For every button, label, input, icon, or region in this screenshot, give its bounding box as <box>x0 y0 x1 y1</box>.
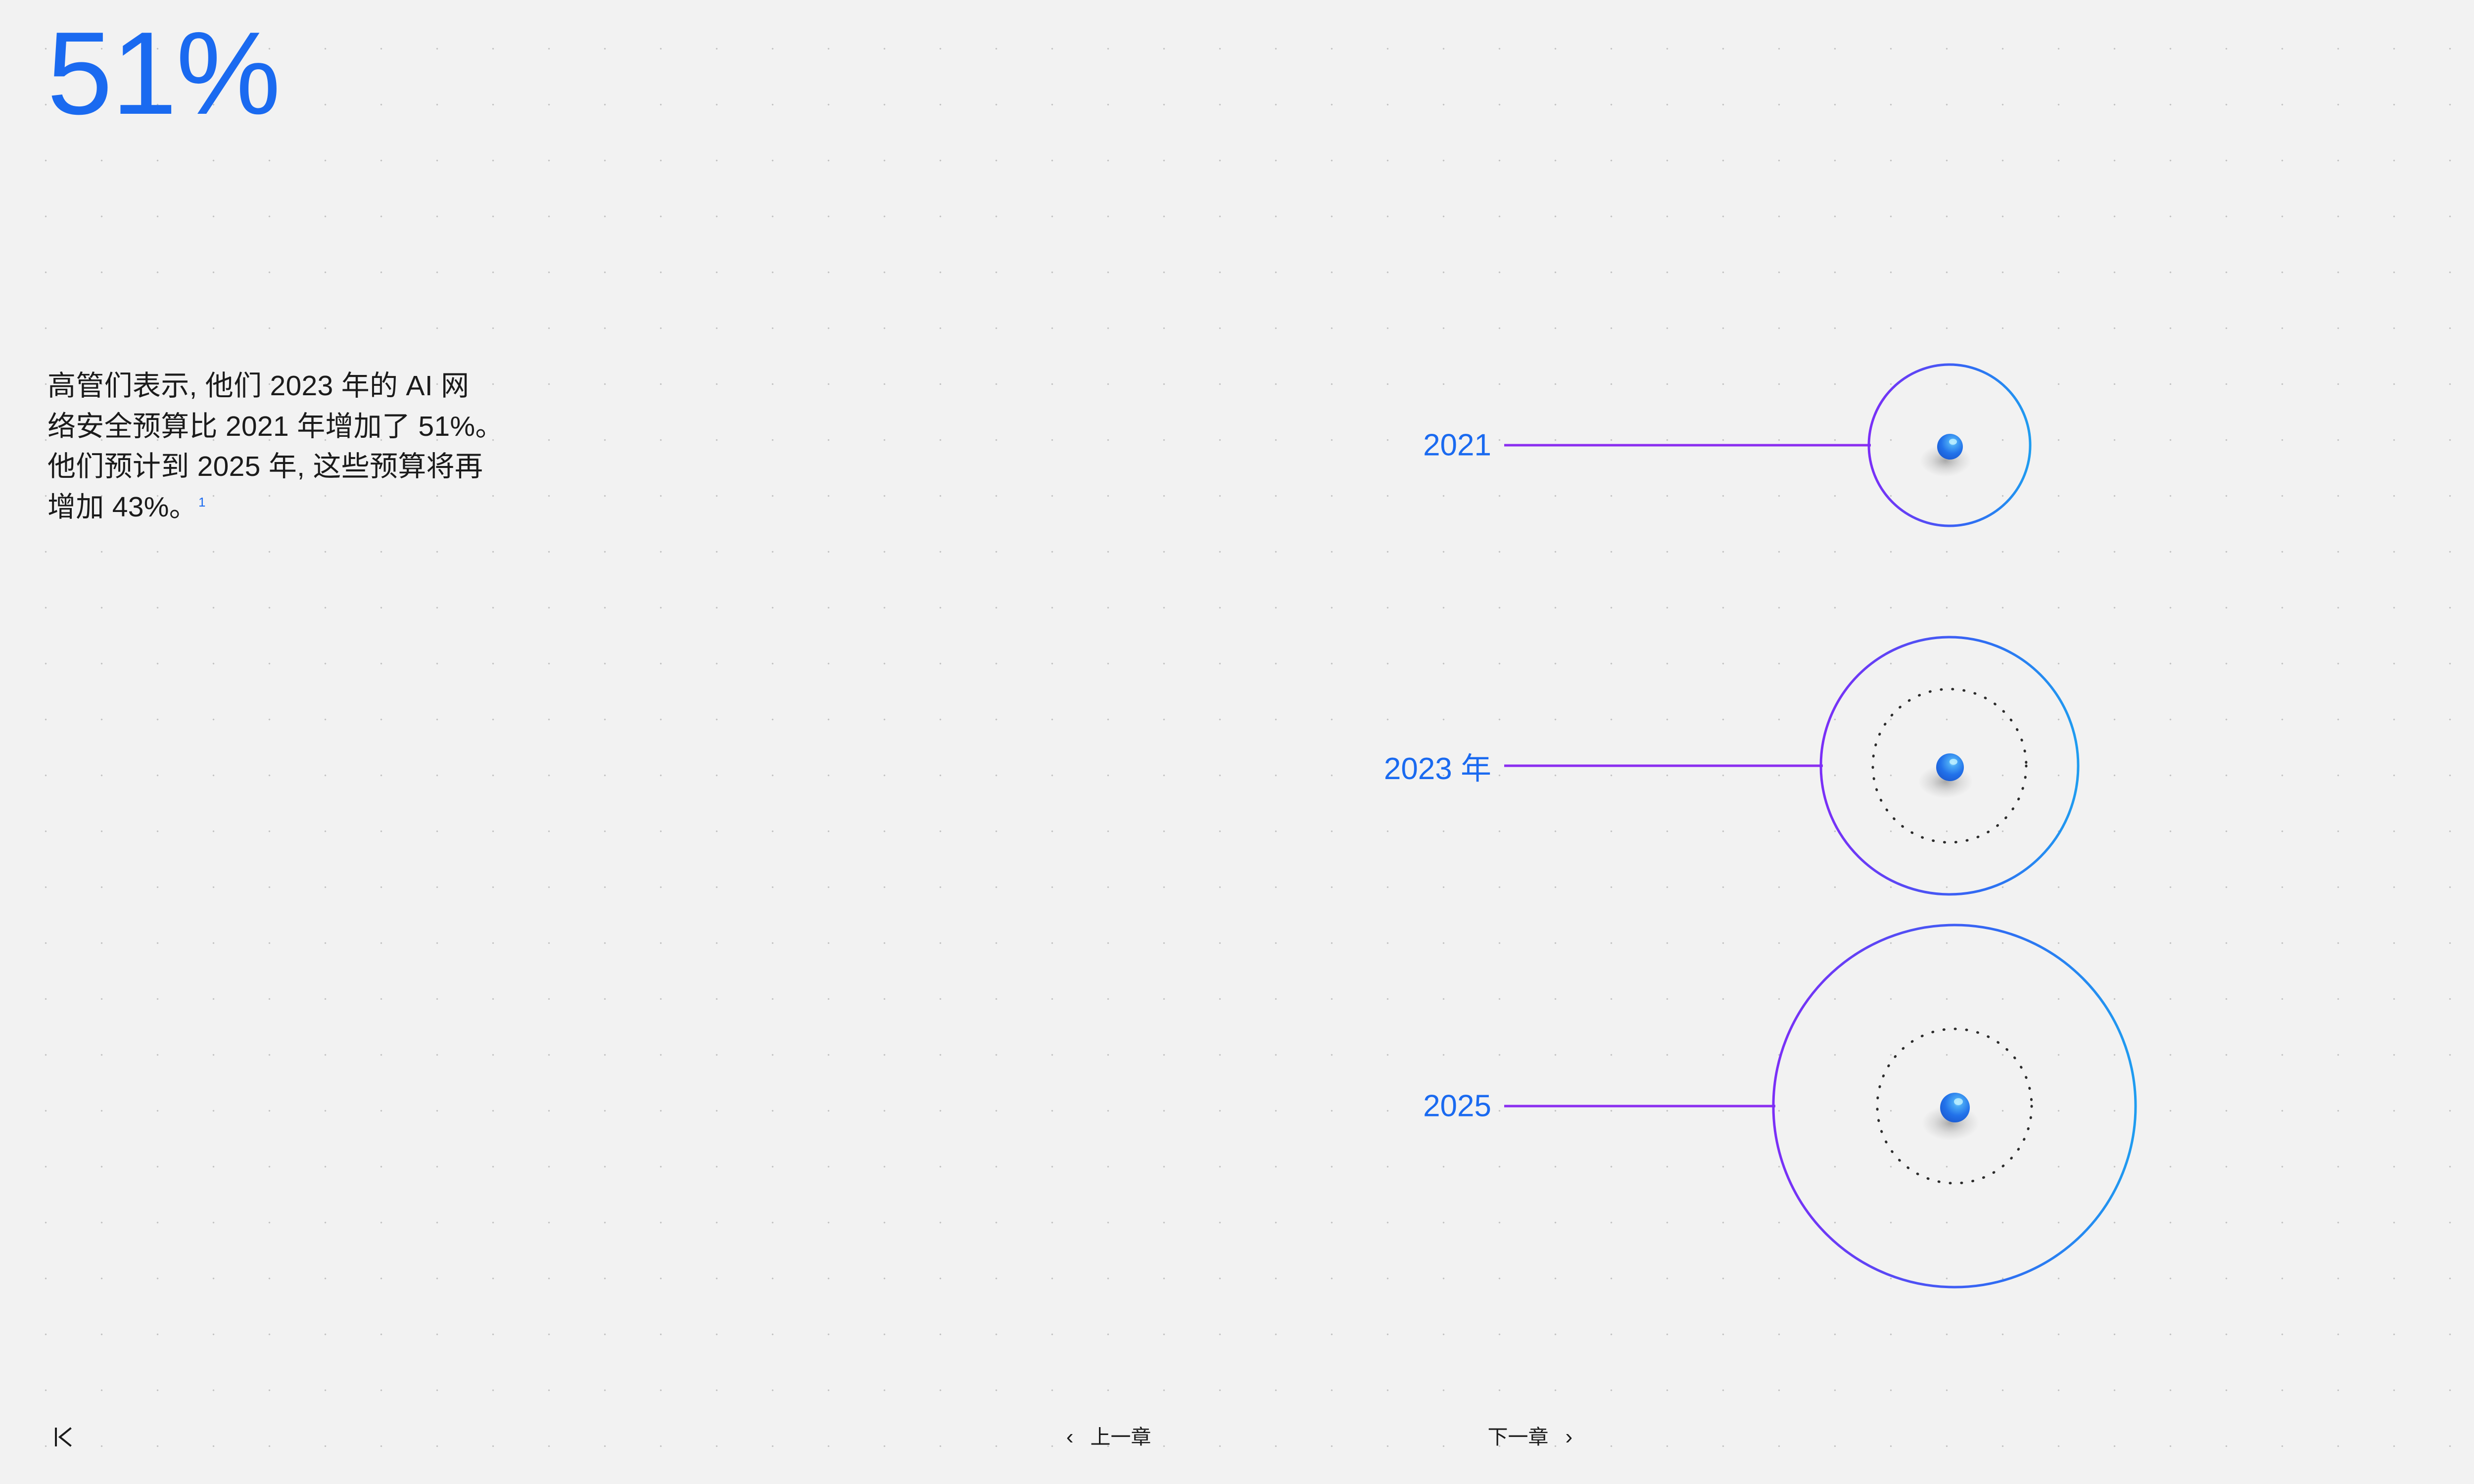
next-chapter-button[interactable]: 下一章 › <box>1488 1426 1573 1448</box>
skip-to-start-icon <box>53 1426 73 1448</box>
bubble-group-2021 <box>1504 365 2030 526</box>
data-marker-2021 <box>1937 434 1963 460</box>
dotted-inner-ring-2025 <box>1877 1029 2032 1183</box>
data-marker-2023 <box>1936 753 1964 781</box>
body-paragraph: 高管们表示, 他们 2023 年的 AI 网 络安全预算比 2021 年增加了 … <box>48 366 849 527</box>
bubble-group-2023 <box>1504 637 2078 894</box>
dotted-inner-ring-2023 <box>1873 689 2026 842</box>
bubble-label-2021: 2021 <box>1382 428 1491 463</box>
outer-ring-2025 <box>1773 925 2136 1287</box>
footer-bar: ‹ 上一章 下一章 › 8 <box>0 1390 2474 1484</box>
page-title: 51% <box>47 15 280 133</box>
bubble-label-2025: 2025 <box>1382 1089 1491 1124</box>
marker-specular-2025 <box>1954 1098 1963 1105</box>
bubble-label-2023: 2023 年 <box>1382 743 1491 788</box>
body-line-2: 络安全预算比 2021 年增加了 51%。 <box>48 411 504 442</box>
next-chapter-label: 下一章 <box>1488 1427 1549 1447</box>
marker-shadow-2021 <box>1920 444 1971 477</box>
go-to-first-page-button[interactable] <box>53 1426 73 1448</box>
marker-shadow-2025 <box>1922 1105 1979 1141</box>
chapter-navigation: ‹ 上一章 下一章 › <box>1066 1426 1572 1448</box>
marker-shadow-2023 <box>1918 765 1973 798</box>
marker-specular-2021 <box>1949 439 1957 445</box>
bubble-group-2025 <box>1504 925 2136 1287</box>
bubble-diagram <box>0 0 2474 1484</box>
footnote-marker[interactable]: 1 <box>198 495 206 510</box>
previous-chapter-button[interactable]: ‹ 上一章 <box>1066 1426 1151 1448</box>
outer-ring-2023 <box>1821 637 2078 894</box>
marker-specular-2023 <box>1950 759 1957 765</box>
data-marker-2025 <box>1940 1093 1970 1122</box>
stat-block: 51% <box>47 15 280 133</box>
outer-ring-2021 <box>1869 365 2030 526</box>
dot-grid-background <box>0 0 2474 1484</box>
body-line-1: 高管们表示, 他们 2023 年的 AI 网 <box>48 370 469 402</box>
chevron-left-icon: ‹ <box>1066 1426 1074 1448</box>
chevron-right-icon: › <box>1566 1426 1573 1448</box>
body-line-4: 增加 43%。 <box>48 491 197 523</box>
body-line-3: 他们预计到 2025 年, 这些预算将再 <box>48 451 483 482</box>
previous-chapter-label: 上一章 <box>1091 1427 1151 1447</box>
